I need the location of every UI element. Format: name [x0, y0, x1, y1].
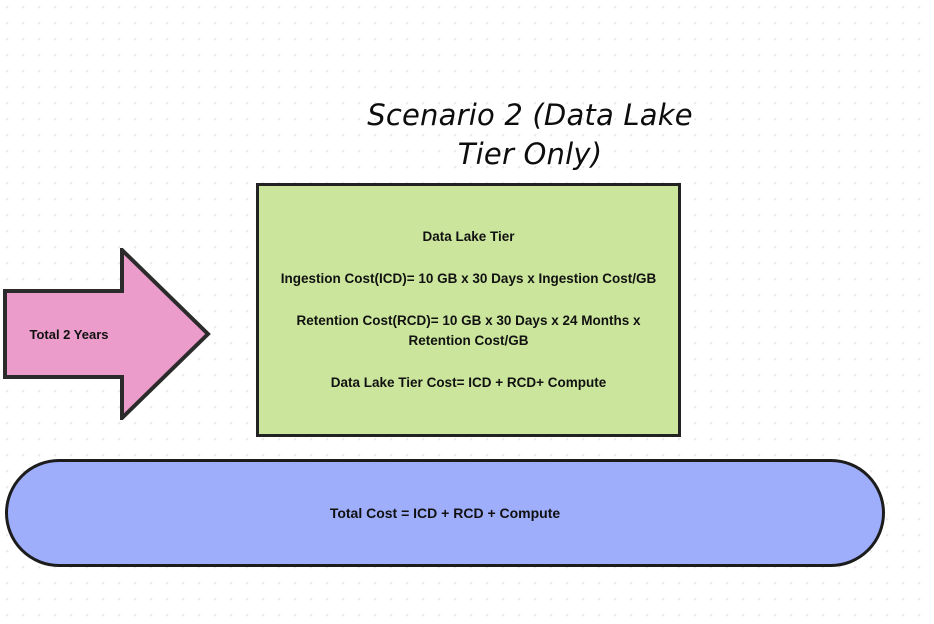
data-lake-tier-cost-formula: Data Lake Tier Cost= ICD + RCD+ Compute — [259, 373, 678, 393]
diagram-canvas: Scenario 2 (Data Lake Tier Only) Total 2… — [0, 0, 934, 624]
total-cost-banner[interactable]: Total Cost = ICD + RCD + Compute — [5, 459, 885, 567]
ingestion-cost-formula: Ingestion Cost(ICD)= 10 GB x 30 Days x I… — [259, 269, 678, 289]
diagram-title: Scenario 2 (Data Lake Tier Only) — [330, 96, 730, 174]
data-lake-tier-heading: Data Lake Tier — [259, 227, 678, 247]
total-cost-label: Total Cost = ICD + RCD + Compute — [330, 505, 560, 521]
data-lake-tier-box[interactable]: Data Lake Tier Ingestion Cost(ICD)= 10 G… — [256, 183, 681, 437]
retention-cost-formula: Retention Cost(RCD)= 10 GB x 30 Days x 2… — [259, 311, 678, 351]
total-2-years-arrow[interactable]: Total 2 Years — [3, 248, 211, 420]
right-arrow-icon — [3, 248, 211, 420]
